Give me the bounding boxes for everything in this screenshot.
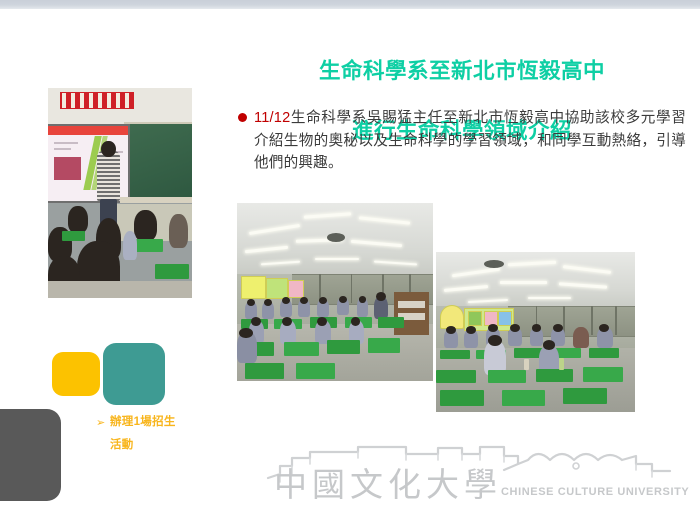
decor-square-teal <box>103 343 165 405</box>
body-date-highlight: 11/12 <box>254 110 290 126</box>
body-text-rest: 生命科學系吳賜猛主任至新北市恆毅高中協助該校多元學習介紹生物的奧秘以及生命科學的… <box>254 110 686 171</box>
decor-square-gray <box>0 409 61 501</box>
sub-caption-line-2: 活動 <box>110 434 225 457</box>
bullet-dot-icon <box>238 113 247 122</box>
logo-english-name: CHINESE CULTURE UNIVERSITY <box>501 486 689 498</box>
photo-classroom-students <box>436 252 635 412</box>
decor-square-yellow <box>52 352 100 396</box>
body-text: 11/12生命科學系吳賜猛主任至新北市恆毅高中協助該校多元學習介紹生物的奧秘以及… <box>254 107 686 175</box>
arrow-bullet-icon: ➢ <box>96 412 106 435</box>
body-paragraph: 11/12生命科學系吳賜猛主任至新北市恆毅高中協助該校多元學習介紹生物的奧秘以及… <box>238 107 686 175</box>
slide-canvas: 生命科學系至新北市恆毅高中 進行生命科學領域介紹 11/12生命科學系吳賜猛主任… <box>0 0 700 525</box>
photo-classroom-wide <box>237 203 433 381</box>
logo-chinese-name: 中國文化大學 <box>274 458 502 506</box>
sub-caption-line-1: 辦理1場招生 <box>110 411 225 434</box>
title-line-1: 生命科學系至新北市恆毅高中 <box>319 59 605 83</box>
sub-caption: ➢ 辦理1場招生 活動 <box>110 411 225 457</box>
university-logo: 中國文化大學 CHINESE CULTURE UNIVERSITY <box>266 444 676 510</box>
top-band <box>0 0 700 9</box>
photo-classroom-teacher <box>48 88 192 298</box>
